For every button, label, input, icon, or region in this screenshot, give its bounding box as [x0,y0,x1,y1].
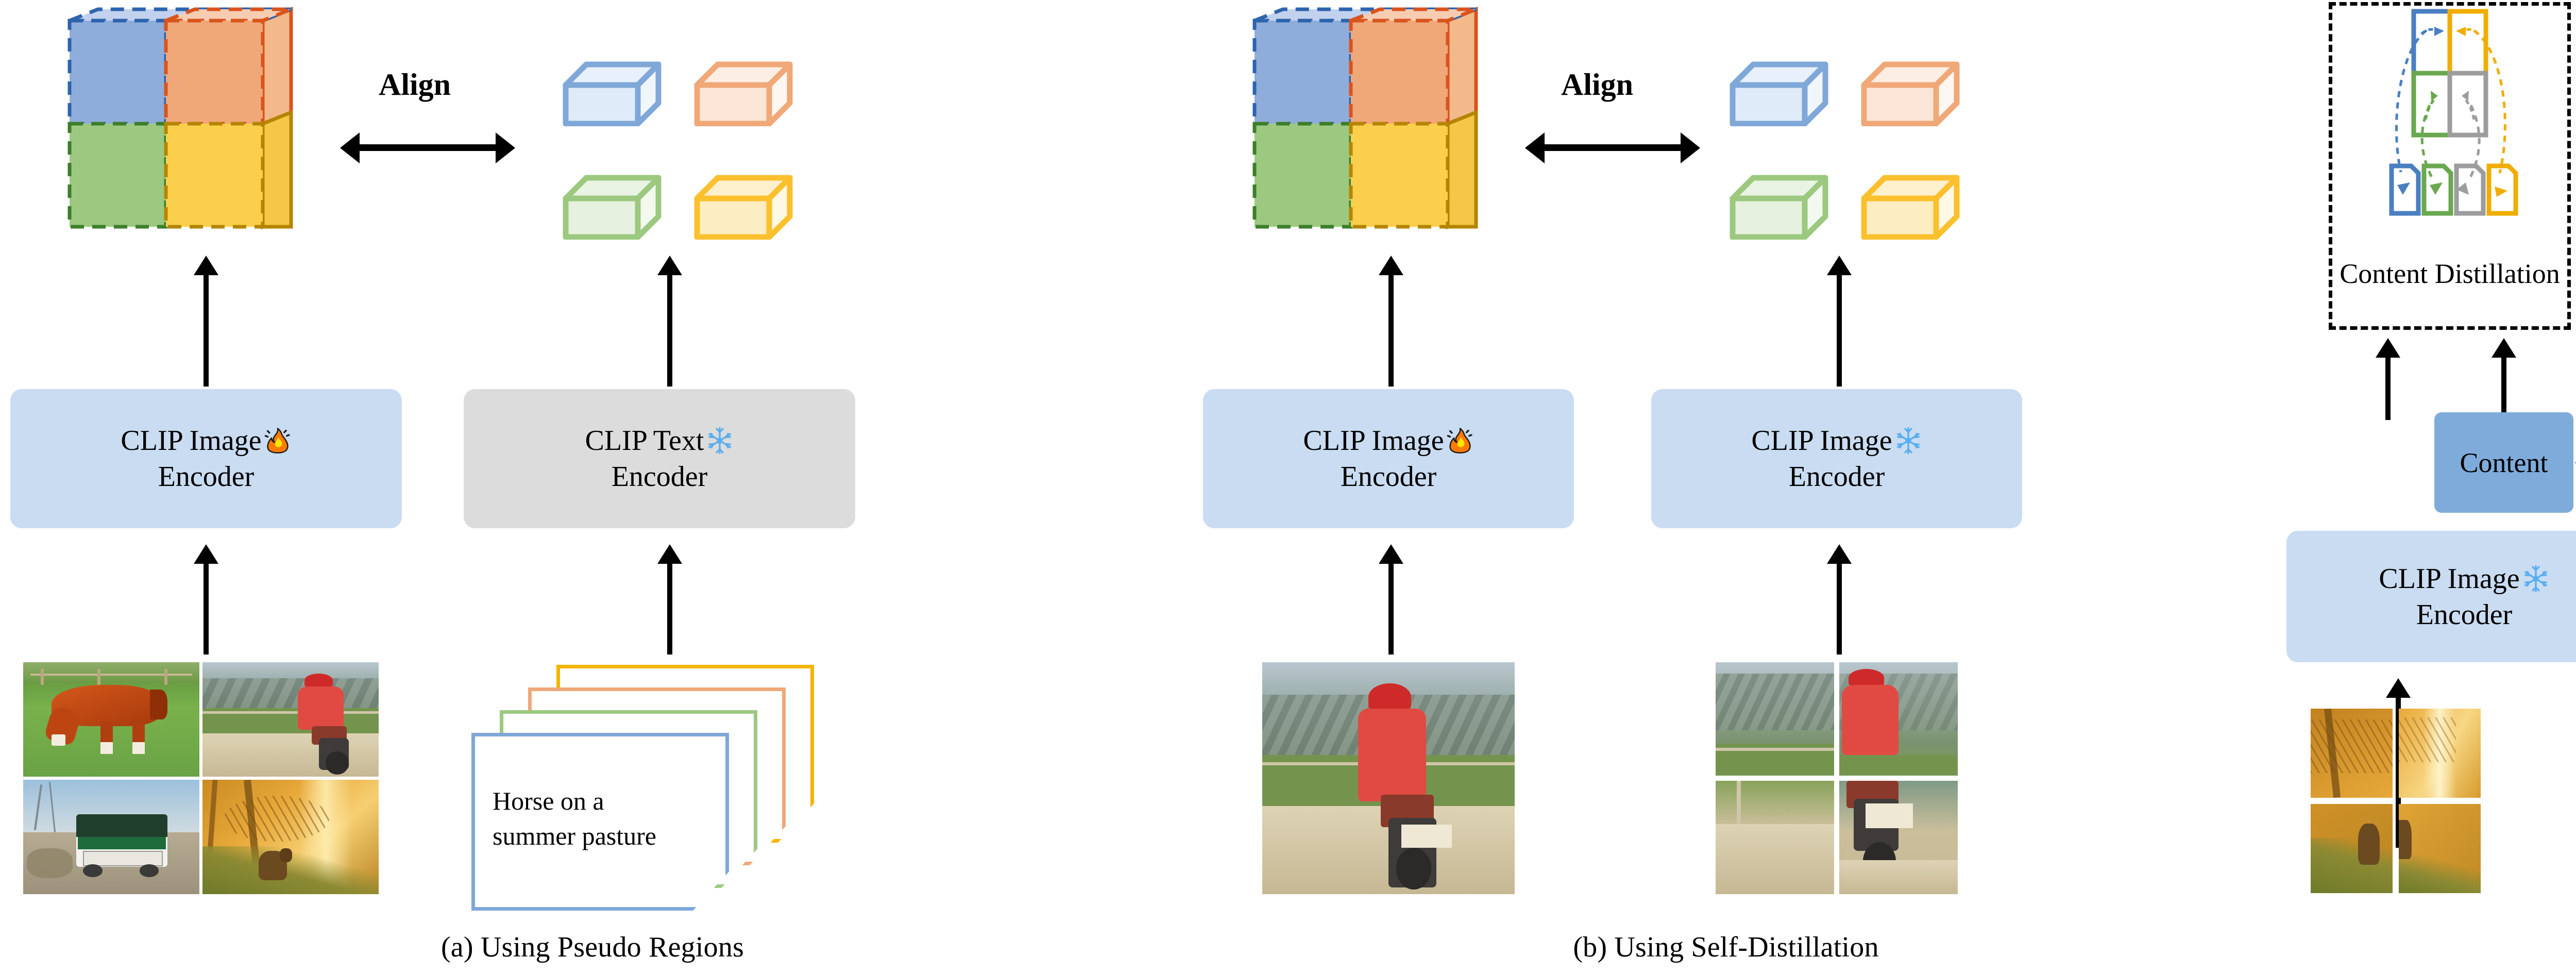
arrow-photo-to-encoder-b1 [1388,562,1394,655]
clip-image-encoder-sublabel-c1: Encoder [2416,597,2513,633]
horse-autumn-crop-tl [2311,709,2393,798]
clip-image-encoder-sublabel-b2: Encoder [1789,459,1885,495]
clip-text-encoder-label-a: CLIP Text [585,423,704,459]
snowflake-icon [2522,565,2550,593]
fire-icon [1446,427,1474,455]
arrow-image-encoder-to-slab-a [204,273,209,387]
motorcyclist-photo-2x2-grid-b [1716,662,1958,894]
horse-autumn-crop-br [2399,804,2481,893]
clip-image-encoder-label-b2: CLIP Image [1751,423,1892,459]
panel-b-using-self-distillation: Align CLIP Image [1185,0,2267,973]
feature-map-slab-b [1242,5,1489,240]
content-distillation-label: Content Distillation [2329,258,2571,290]
clip-image-encoder-label-c1: CLIP Image [2379,561,2519,597]
fire-icon [264,427,292,455]
content-chip-label: Content [2460,447,2548,479]
align-arrow-a [355,144,500,151]
arrow-text-encoder-to-cubes-a [667,273,672,387]
arrow-content-enc-to-content-box [2385,356,2391,420]
photo-crop-tr-b [1839,662,1958,776]
snowflake-icon [1894,427,1922,455]
cube-yellow-b [1860,144,1960,240]
photo-crop-bl-b [1716,781,1834,894]
photo-grid-a [23,662,379,894]
arrow-encoder1-to-slab-b [1388,273,1394,387]
clip-text-encoder-sublabel-a: Encoder [612,459,708,495]
panel-c-decouple-distillation: Content Distillation [2267,0,2576,973]
horse-autumn-crop-tr [2399,709,2481,798]
horse-autumn-photo [202,780,379,894]
arrow-cards-to-encoder-a [667,562,672,655]
arrow-content-chip-to-content-box [2501,356,2506,420]
text-card-caption: Horse on a summer pasture [493,784,715,853]
content-chip[interactable]: Content [2434,412,2573,513]
clip-image-encoder-sublabel-b1: Encoder [1341,459,1437,495]
panel-a-using-pseudo-regions: Align CLIP Image [0,0,1185,973]
photo-crop-br-b [1839,781,1958,894]
cube-green-b [1728,144,1829,240]
feature-map-slab-a [57,5,304,240]
clip-image-encoder-box-c1[interactable]: CLIP Image Encoder [2286,531,2576,662]
arrow-photo-to-encoder-b2 [1837,562,1842,655]
cube-blue-a [562,31,662,126]
snowflake-icon [706,427,734,455]
clip-image-encoder-label-a: CLIP Image [121,423,261,459]
arrow-photos-to-encoder-a [204,562,209,655]
panel-b-caption: (b) Using Self-Distillation [1185,931,2267,964]
cube-orange-b [1860,31,1960,126]
bus-photo [23,780,199,894]
text-card-1: Horse on a summer pasture [471,733,729,911]
horse-autumn-crop-bl [2311,804,2393,893]
clip-image-encoder-box-b-right[interactable]: CLIP Image Encoder [1651,389,2022,528]
clip-text-encoder-box-a[interactable]: CLIP Text Encoder [464,389,855,528]
clip-image-encoder-label-b1: CLIP Image [1303,423,1444,459]
cube-green-a [562,144,662,240]
clip-image-encoder-box-b-left[interactable]: CLIP Image Encoder [1203,389,1574,528]
cube-blue-b [1728,31,1829,126]
motorcyclist-photo-full-b [1262,662,1515,894]
motorcyclist-photo [202,662,379,777]
align-label-b: Align [1561,67,1633,103]
align-label-a: Align [379,67,451,103]
text-card-stack-a: Horse on a summer pasture [459,665,850,897]
align-arrow-b [1540,144,1685,151]
clip-image-encoder-sublabel-a: Encoder [158,459,255,495]
cube-orange-a [693,31,793,126]
cube-yellow-a [693,144,793,240]
panel-c-caption: (c) Decouple Distillation (Ours) [2267,931,2576,964]
arrow-encoder2-to-cubes-b [1837,273,1842,387]
horse-grazing-photo [23,662,199,777]
photo-crop-tl-b [1716,662,1834,776]
horse-autumn-2x2-grid-c [2311,709,2481,893]
clip-image-encoder-box-a[interactable]: CLIP Image Encoder [10,389,402,528]
panel-a-caption: (a) Using Pseudo Regions [0,931,1185,964]
